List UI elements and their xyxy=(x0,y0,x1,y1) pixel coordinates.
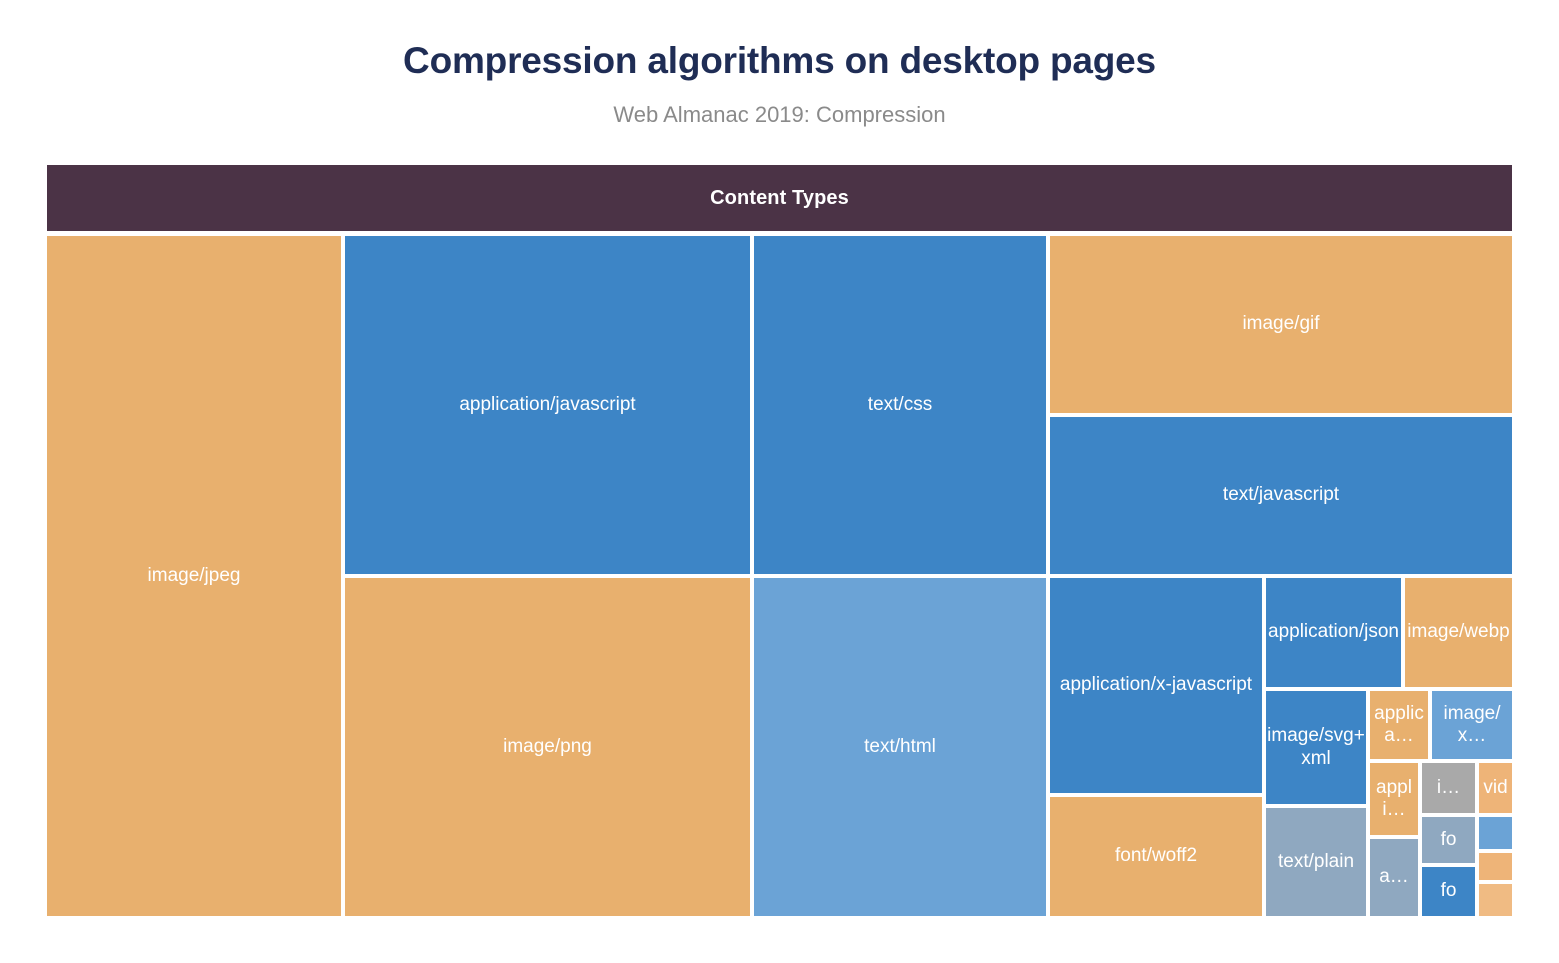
treemap-tile[interactable]: appli… xyxy=(1370,763,1418,835)
treemap-tile-label: appli… xyxy=(1371,777,1417,822)
treemap-tile[interactable]: fo xyxy=(1422,867,1475,916)
treemap-tile-label: text/javascript xyxy=(1051,484,1511,506)
treemap-tile-label: text/html xyxy=(755,736,1045,758)
treemap-tile[interactable]: text/plain xyxy=(1266,808,1366,916)
treemap-tile-label: font/woff2 xyxy=(1051,845,1261,867)
treemap-tile[interactable]: text/css xyxy=(754,236,1046,574)
treemap-tile[interactable]: image/svg+xml xyxy=(1266,691,1366,804)
treemap-tile-label: a… xyxy=(1371,866,1417,888)
treemap-header-label: Content Types xyxy=(710,187,849,210)
treemap-tile[interactable]: text/html xyxy=(754,578,1046,916)
treemap-tile-label: text/css xyxy=(755,394,1045,416)
treemap-tile[interactable]: application/json xyxy=(1266,578,1401,687)
treemap-tile[interactable]: fo xyxy=(1422,817,1475,863)
treemap-tile-label: fo xyxy=(1423,880,1474,902)
treemap-tile[interactable] xyxy=(1479,853,1512,880)
treemap-tile-label: vid xyxy=(1480,777,1511,799)
treemap-chart: Content Types image/jpegapplication/java… xyxy=(47,165,1512,916)
treemap-header: Content Types xyxy=(47,165,1512,231)
treemap-tile[interactable]: font/woff2 xyxy=(1050,797,1262,916)
treemap-tile-label: image/jpeg xyxy=(48,565,340,587)
treemap-tile[interactable]: image/webp xyxy=(1405,578,1512,687)
treemap-tile[interactable]: image/png xyxy=(345,578,750,916)
treemap-tile-label: fo xyxy=(1423,829,1474,851)
treemap-tile-label: image/x… xyxy=(1433,703,1511,748)
chart-subtitle: Web Almanac 2019: Compression xyxy=(0,102,1559,128)
treemap-tile[interactable] xyxy=(1479,884,1512,916)
treemap-tiles: image/jpegapplication/javascriptimage/pn… xyxy=(47,236,1512,916)
chart-title: Compression algorithms on desktop pages xyxy=(0,40,1559,82)
treemap-tile-label: applica… xyxy=(1371,703,1427,748)
treemap-tile-label: image/webp xyxy=(1406,621,1511,643)
treemap-tile-label: image/svg+xml xyxy=(1267,725,1365,770)
treemap-tile[interactable]: a… xyxy=(1370,839,1418,916)
treemap-tile-label: image/png xyxy=(346,736,749,758)
treemap-tile[interactable]: image/jpeg xyxy=(47,236,341,916)
treemap-tile[interactable]: i… xyxy=(1422,763,1475,813)
treemap-tile-label: application/javascript xyxy=(346,394,749,416)
treemap-tile-label: image/gif xyxy=(1051,313,1511,335)
treemap-tile-label: application/x-javascript xyxy=(1051,674,1261,696)
treemap-tile[interactable]: application/javascript xyxy=(345,236,750,574)
treemap-tile[interactable]: applica… xyxy=(1370,691,1428,759)
treemap-tile-label: i… xyxy=(1423,777,1474,799)
treemap-tile-label: text/plain xyxy=(1267,851,1365,873)
treemap-tile[interactable]: image/gif xyxy=(1050,236,1512,413)
treemap-tile[interactable]: image/x… xyxy=(1432,691,1512,759)
treemap-tile[interactable] xyxy=(1479,817,1512,849)
treemap-page: Compression algorithms on desktop pages … xyxy=(0,0,1559,963)
treemap-tile[interactable]: vid xyxy=(1479,763,1512,813)
treemap-tile[interactable]: application/x-javascript xyxy=(1050,578,1262,793)
treemap-tile-label: application/json xyxy=(1267,621,1400,643)
treemap-tile[interactable]: text/javascript xyxy=(1050,417,1512,574)
